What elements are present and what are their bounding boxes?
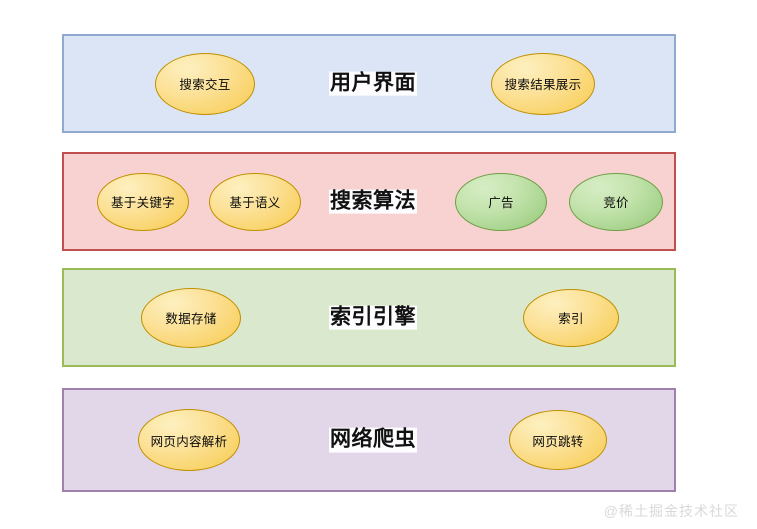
node-label: 网页内容解析 xyxy=(151,431,228,450)
node-label: 网页跳转 xyxy=(532,431,583,450)
node-label: 竞价 xyxy=(603,192,629,211)
node-index[interactable]: 索引 xyxy=(523,289,619,347)
node-label: 基于语义 xyxy=(229,192,280,211)
band-index-engine[interactable]: 数据存储 索引引擎 索引 xyxy=(62,268,676,367)
layered-architecture-diagram: 搜索交互 用户界面 搜索结果展示 基于关键字 基于语义 搜索算法 广告 竞价 数… xyxy=(0,0,757,529)
band-title-web-crawler: 网络爬虫 xyxy=(329,428,417,453)
node-semantic-based[interactable]: 基于语义 xyxy=(209,173,301,231)
band-web-crawler[interactable]: 网页内容解析 网络爬虫 网页跳转 xyxy=(62,388,676,492)
band-title-search-algorithm: 搜索算法 xyxy=(329,189,417,214)
node-label: 搜索结果展示 xyxy=(505,74,582,93)
band-title-index-engine: 索引引擎 xyxy=(329,305,417,330)
band-user-interface[interactable]: 搜索交互 用户界面 搜索结果展示 xyxy=(62,34,676,133)
node-label: 广告 xyxy=(488,192,514,211)
node-data-storage[interactable]: 数据存储 xyxy=(141,288,241,348)
node-keyword-based[interactable]: 基于关键字 xyxy=(97,173,189,231)
node-label: 数据存储 xyxy=(165,308,216,327)
node-page-navigation[interactable]: 网页跳转 xyxy=(509,410,607,470)
node-search-interaction[interactable]: 搜索交互 xyxy=(155,53,255,115)
band-title-user-interface: 用户界面 xyxy=(329,71,417,96)
watermark: @稀土掘金技术社区 xyxy=(604,501,739,521)
node-advertising[interactable]: 广告 xyxy=(455,173,547,231)
band-search-algorithm[interactable]: 基于关键字 基于语义 搜索算法 广告 竞价 xyxy=(62,152,676,251)
node-label: 搜索交互 xyxy=(179,74,230,93)
node-search-results-display[interactable]: 搜索结果展示 xyxy=(491,53,595,115)
node-label: 基于关键字 xyxy=(111,192,175,211)
node-label: 索引 xyxy=(558,308,584,327)
node-bidding[interactable]: 竞价 xyxy=(569,173,663,231)
node-page-content-parsing[interactable]: 网页内容解析 xyxy=(138,409,240,471)
